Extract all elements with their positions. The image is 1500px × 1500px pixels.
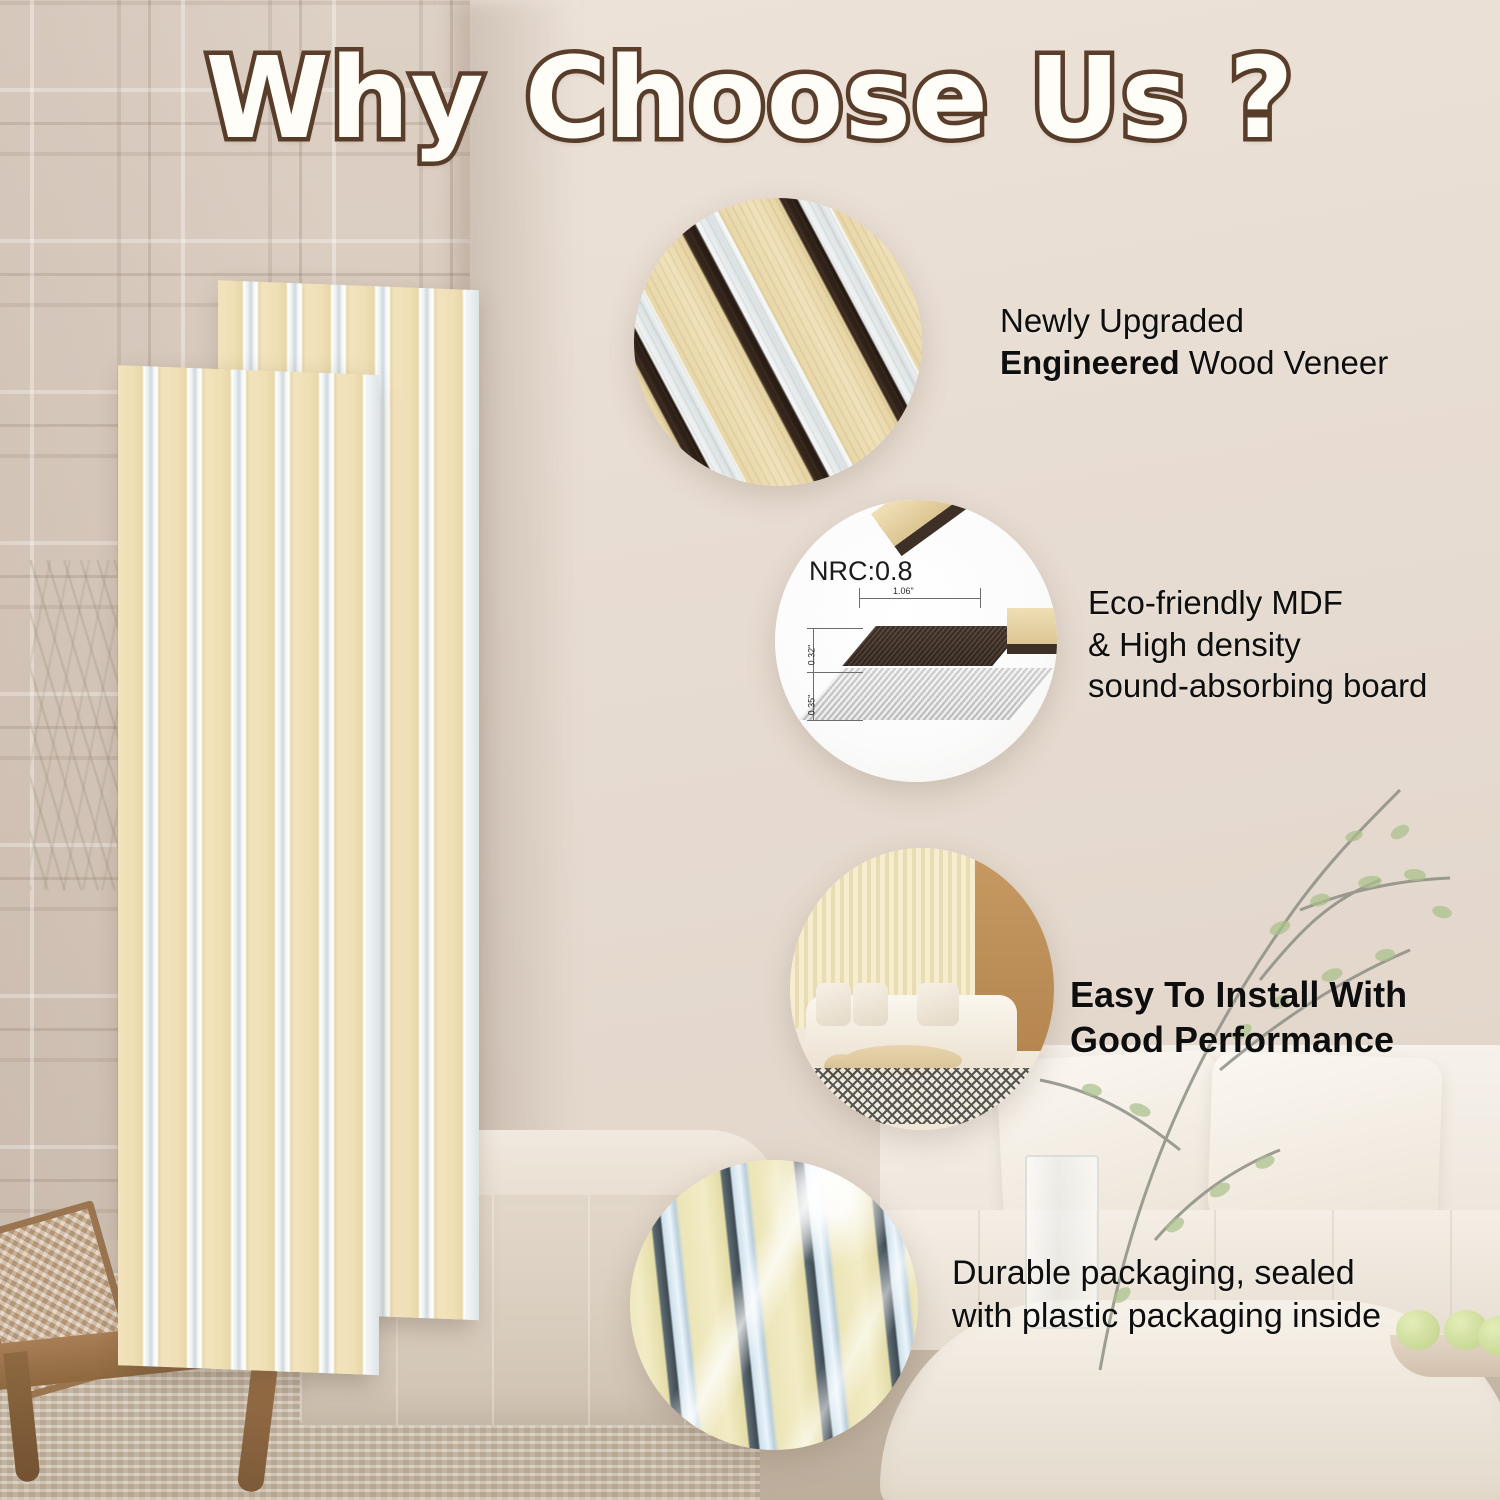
feature-easy-install-text: Easy To Install With Good Performance	[1070, 972, 1407, 1063]
dimension-tick	[807, 672, 863, 673]
background-sofa-cushion-right	[1207, 1051, 1443, 1229]
felt-layer	[799, 668, 1053, 720]
wood-slat-diagonal	[871, 500, 1057, 546]
page-title: Why Choose Us ?	[0, 34, 1500, 164]
wood-slat-secondary	[1007, 608, 1057, 644]
dimension-mdf-label: 0.32"	[806, 645, 816, 666]
feature-line-1: Durable packaging, sealed	[952, 1252, 1381, 1295]
dimension-tick	[859, 588, 860, 608]
infographic-canvas: Why Choose Us ? Newly Upgraded Engineere…	[0, 0, 1500, 1500]
room-rug	[801, 1068, 1033, 1124]
product-panel-front	[118, 365, 368, 1375]
panel-side-edge	[467, 290, 479, 1320]
room-pillow	[853, 983, 887, 1025]
feature-eco-mdf: NRC:0.8 1.06" 0.32" 0.35"	[775, 500, 1057, 782]
feature-line-2: Good Performance	[1070, 1017, 1407, 1062]
feature-durable-packaging-text: Durable packaging, sealed with plastic p…	[952, 1252, 1381, 1338]
dimension-tick	[807, 720, 863, 721]
feature-line-2: & High density	[1088, 624, 1427, 666]
feature-line-3: sound-absorbing board	[1088, 665, 1427, 707]
background-apple	[1396, 1310, 1440, 1350]
feature-line-2-bold: Engineered	[1000, 344, 1180, 381]
dimension-width-label: 1.06"	[893, 586, 914, 596]
feature-wood-veneer	[634, 198, 922, 486]
feature-wood-veneer-text: Newly Upgraded Engineered Wood Veneer	[1000, 300, 1388, 383]
feature-line-1: Easy To Install With	[1070, 972, 1407, 1017]
dimension-tick	[980, 588, 981, 608]
feature-line-1: Newly Upgraded	[1000, 300, 1388, 342]
feature-eco-mdf-text: Eco-friendly MDF & High density sound-ab…	[1088, 582, 1427, 707]
feature-durable-packaging	[630, 1160, 918, 1450]
feature-line-2: with plastic packaging inside	[952, 1295, 1381, 1338]
mdf-layer	[842, 626, 1026, 666]
dimension-rule-width	[859, 598, 981, 599]
feature-easy-install	[790, 848, 1054, 1130]
room-pillow	[917, 983, 959, 1025]
wrapped-panels-icon	[630, 1160, 918, 1450]
feature-line-2: Engineered Wood Veneer	[1000, 342, 1388, 384]
panel-side-edge	[367, 375, 379, 1375]
nrc-value: NRC:0.8	[809, 556, 913, 587]
cross-section-icon: NRC:0.8 1.06" 0.32" 0.35"	[775, 500, 1057, 782]
dimension-tick	[807, 628, 863, 629]
room-scene-icon	[790, 848, 1054, 1130]
room-pillow	[816, 983, 850, 1025]
feature-line-2-rest: Wood Veneer	[1180, 344, 1389, 381]
slat-closeup-icon	[634, 198, 922, 486]
dimension-felt-label: 0.35"	[806, 695, 816, 716]
feature-line-1: Eco-friendly MDF	[1088, 582, 1427, 624]
